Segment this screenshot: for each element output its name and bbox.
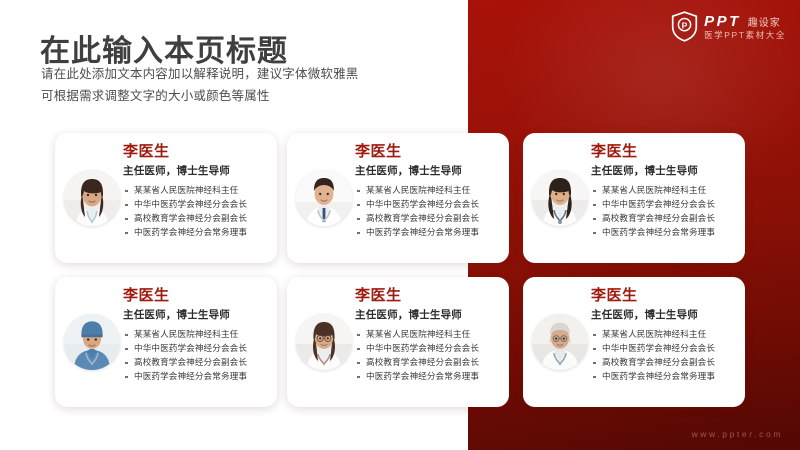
- card-body: 李医生 主任医师，博士生导师 某某省人民医院神经科主任 中华中医药学会神经分会会…: [121, 277, 277, 407]
- shield-p-icon: P: [671, 11, 698, 42]
- list-item: 中医药学会神经分会常务理事: [591, 226, 737, 240]
- list-item: 高校教育学会神经分会副会长: [355, 356, 501, 370]
- doctor-credentials-list: 某某省人民医院神经科主任 中华中医药学会神经分会会长 高校教育学会神经分会副会长…: [123, 328, 269, 384]
- card-body: 李医生 主任医师，博士生导师 某某省人民医院神经科主任 中华中医药学会神经分会会…: [589, 133, 745, 263]
- list-item: 高校教育学会神经分会副会长: [591, 212, 737, 226]
- list-item: 中医药学会神经分会常务理事: [355, 226, 501, 240]
- doctor-name: 李医生: [355, 288, 501, 304]
- doctor-credentials-list: 某某省人民医院神经科主任 中华中医药学会神经分会会长 高校教育学会神经分会副会长…: [355, 328, 501, 384]
- doctor-role: 主任医师，博士生导师: [123, 163, 269, 178]
- avatar-container: [523, 277, 589, 407]
- female-doctor-glasses-avatar: [296, 314, 352, 370]
- list-item: 某某省人民医院神经科主任: [591, 184, 737, 198]
- list-item: 高校教育学会神经分会副会长: [591, 356, 737, 370]
- logo-ppt-text: PPT: [704, 14, 741, 29]
- doctor-role: 主任医师，博士生导师: [591, 307, 737, 322]
- list-item: 某某省人民医院神经科主任: [355, 328, 501, 342]
- page-subtitle-line-2: 可根据需求调整文字的大小或颜色等属性: [41, 86, 359, 108]
- male-doctor-white-coat-avatar: [296, 170, 352, 226]
- doctor-credentials-list: 某某省人民医院神经科主任 中华中医药学会神经分会会长 高校教育学会神经分会副会长…: [591, 328, 737, 384]
- doctor-name: 李医生: [591, 288, 737, 304]
- list-item: 高校教育学会神经分会副会长: [123, 212, 269, 226]
- doctor-name: 李医生: [123, 288, 269, 304]
- avatar: [296, 170, 352, 226]
- list-item: 中华中医药学会神经分会会长: [123, 342, 269, 356]
- doctor-card[interactable]: 李医生 主任医师，博士生导师 某某省人民医院神经科主任 中华中医药学会神经分会会…: [55, 277, 277, 407]
- avatar: [64, 170, 120, 226]
- list-item: 中华中医药学会神经分会会长: [123, 198, 269, 212]
- svg-text:P: P: [682, 20, 688, 30]
- card-body: 李医生 主任医师，博士生导师 某某省人民医院神经科主任 中华中医药学会神经分会会…: [589, 277, 745, 407]
- doctor-card[interactable]: 李医生 主任医师，博士生导师 某某省人民医院神经科主任 中华中医药学会神经分会会…: [523, 277, 745, 407]
- slide-canvas: 在此输入本页标题 请在此处添加文本内容加以解释说明，建议字体微软雅黑 可根据需求…: [0, 0, 800, 450]
- list-item: 高校教育学会神经分会副会长: [123, 356, 269, 370]
- female-doctor-stethoscope-avatar: [532, 170, 588, 226]
- card-body: 李医生 主任医师，博士生导师 某某省人民医院神经科主任 中华中医药学会神经分会会…: [353, 133, 509, 263]
- logo-tagline: 医学PPT素材大全: [704, 31, 786, 40]
- avatar: [296, 314, 352, 370]
- list-item: 中华中医药学会神经分会会长: [355, 342, 501, 356]
- avatar: [532, 170, 588, 226]
- list-item: 某某省人民医院神经科主任: [355, 184, 501, 198]
- avatar-container: [287, 133, 353, 263]
- list-item: 某某省人民医院神经科主任: [123, 184, 269, 198]
- page-subtitle: 请在此处添加文本内容加以解释说明，建议字体微软雅黑 可根据需求调整文字的大小或颜…: [41, 64, 359, 108]
- card-body: 李医生 主任医师，博士生导师 某某省人民医院神经科主任 中华中医药学会神经分会会…: [121, 133, 277, 263]
- list-item: 高校教育学会神经分会副会长: [355, 212, 501, 226]
- doctor-role: 主任医师，博士生导师: [355, 307, 501, 322]
- male-surgeon-blue-scrubs-avatar: [64, 314, 120, 370]
- card-body: 李医生 主任医师，博士生导师 某某省人民医院神经科主任 中华中医药学会神经分会会…: [353, 277, 509, 407]
- brand-logo[interactable]: P PPT 趣设家 医学PPT素材大全: [671, 11, 786, 42]
- doctor-role: 主任医师，博士生导师: [591, 163, 737, 178]
- doctor-role: 主任医师，博士生导师: [123, 307, 269, 322]
- doctor-credentials-list: 某某省人民医院神经科主任 中华中医药学会神经分会会长 高校教育学会神经分会副会长…: [355, 184, 501, 240]
- avatar-container: [523, 133, 589, 263]
- list-item: 中医药学会神经分会常务理事: [123, 370, 269, 384]
- list-item: 中医药学会神经分会常务理事: [591, 370, 737, 384]
- avatar-container: [287, 277, 353, 407]
- doctor-name: 李医生: [591, 144, 737, 160]
- logo-brand-cn: 趣设家: [748, 19, 781, 29]
- senior-male-doctor-avatar: [532, 314, 588, 370]
- doctor-credentials-list: 某某省人民医院神经科主任 中华中医药学会神经分会会长 高校教育学会神经分会副会长…: [591, 184, 737, 240]
- avatar-container: [55, 133, 121, 263]
- avatar-container: [55, 277, 121, 407]
- doctor-card[interactable]: 李医生 主任医师，博士生导师 某某省人民医院神经科主任 中华中医药学会神经分会会…: [287, 277, 509, 407]
- avatar: [64, 314, 120, 370]
- doctor-card[interactable]: 李医生 主任医师，博士生导师 某某省人民医院神经科主任 中华中医药学会神经分会会…: [523, 133, 745, 263]
- list-item: 中华中医药学会神经分会会长: [591, 342, 737, 356]
- avatar: [532, 314, 588, 370]
- doctor-role: 主任医师，博士生导师: [355, 163, 501, 178]
- female-doctor-smiling-avatar: [64, 170, 120, 226]
- watermark: www.ppter.com: [692, 429, 783, 439]
- list-item: 中华中医药学会神经分会会长: [355, 198, 501, 212]
- doctor-credentials-list: 某某省人民医院神经科主任 中华中医药学会神经分会会长 高校教育学会神经分会副会长…: [123, 184, 269, 240]
- list-item: 中华中医药学会神经分会会长: [591, 198, 737, 212]
- list-item: 中医药学会神经分会常务理事: [123, 226, 269, 240]
- doctor-card[interactable]: 李医生 主任医师，博士生导师 某某省人民医院神经科主任 中华中医药学会神经分会会…: [55, 133, 277, 263]
- logo-primary-row: PPT 趣设家: [704, 14, 786, 29]
- list-item: 某某省人民医院神经科主任: [123, 328, 269, 342]
- list-item: 某某省人民医院神经科主任: [591, 328, 737, 342]
- logo-text-block: PPT 趣设家 医学PPT素材大全: [704, 14, 786, 40]
- doctor-name: 李医生: [123, 144, 269, 160]
- page-subtitle-line-1: 请在此处添加文本内容加以解释说明，建议字体微软雅黑: [41, 64, 359, 86]
- doctor-name: 李医生: [355, 144, 501, 160]
- doctor-card[interactable]: 李医生 主任医师，博士生导师 某某省人民医院神经科主任 中华中医药学会神经分会会…: [287, 133, 509, 263]
- list-item: 中医药学会神经分会常务理事: [355, 370, 501, 384]
